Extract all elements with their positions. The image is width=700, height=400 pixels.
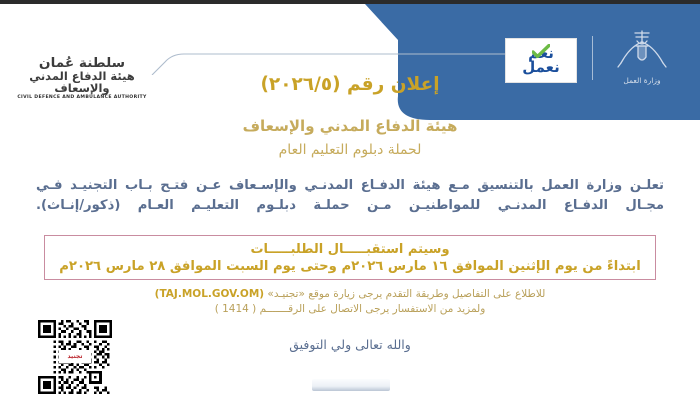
contact-info-line: ولمزيد من الاستفسار يرجى الاتصال على الر… (0, 303, 700, 315)
civil-defence-logo-arabic-1: سلطنة عُمان (13, 57, 152, 70)
header-logo-separator (592, 36, 593, 80)
ministry-of-labour-caption: وزارة العمل (607, 76, 677, 85)
applications-period-dates: ابتداءً من يوم الإثنين الموافق ١٦ مارس ٢… (59, 259, 641, 274)
details-info-text: للاطلاع على التفاصيل وطريقة التقدم يرجى … (264, 288, 545, 300)
top-edge-bar (0, 0, 700, 4)
ministry-of-labour-logo: وزارة العمل (607, 27, 677, 89)
announcement-page: سلطنة عُمان هيئة الدفاع المدني والإسعاف … (0, 0, 700, 400)
naam-namal-logo: نعم نعمل (505, 38, 577, 83)
qr-code-icon[interactable]: تجنيد (38, 320, 112, 394)
taj-portal-url[interactable]: (TAJ.MOL.GOV.OM) (155, 288, 264, 300)
announcement-body-paragraph: تعلـن وزارة العمل بالتنسيق مـع هيئة الدف… (36, 176, 664, 217)
details-info-line: للاطلاع على التفاصيل وطريقة التقدم يرجى … (0, 288, 700, 300)
applications-period-box: وسيتم استقبـــــال الطلبـــــات ابتداءً … (44, 235, 656, 280)
qr-center-brand-label: تجنيد (59, 350, 91, 363)
naam-namal-line-2: نعمل (522, 61, 560, 75)
bottom-page-shadow (312, 379, 390, 391)
applications-period-heading: وسيتم استقبـــــال الطلبـــــات (250, 242, 449, 257)
civil-defence-logo-english: CIVIL DEFENCE AND AMBULANCE AUTHORITY (16, 96, 148, 101)
contact-info-text: ولمزيد من الاستفسار يرجى الاتصال على الر… (256, 303, 485, 315)
khanjar-swords-emblem-icon (607, 27, 677, 75)
announcement-subtitle-qualification: لحملة دبلوم التعليم العام (0, 142, 700, 158)
announcement-subtitle-authority: هيئة الدفاع المدني والإسعاف (0, 117, 700, 135)
contact-phone-number[interactable]: ( 1414 ) (215, 303, 257, 315)
green-check-icon (532, 44, 550, 58)
announcement-title: إعلان رقم (٢٠٢٦/٥) (0, 74, 700, 95)
